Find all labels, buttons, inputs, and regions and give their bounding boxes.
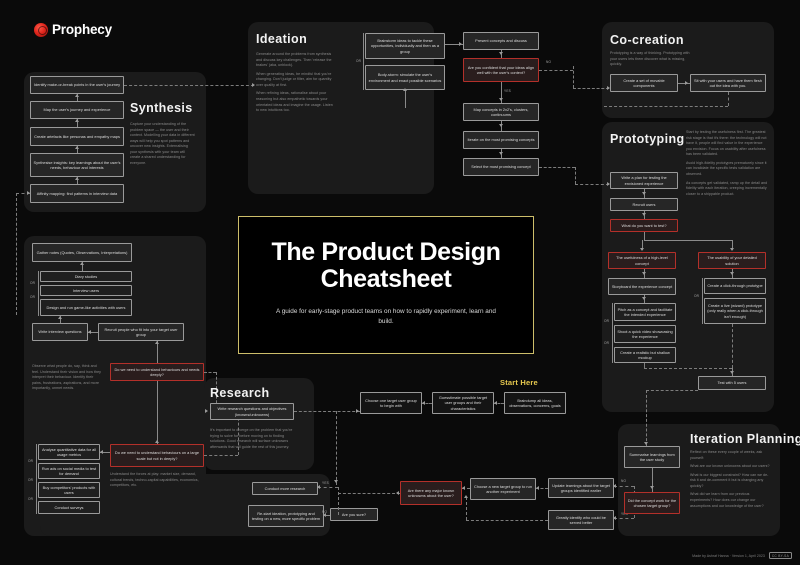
- arrow-cocreation: [685, 81, 688, 85]
- connector-ideation-no-h2: [573, 88, 609, 89]
- footer-credit: Made by Ashraf Hanna · Version 1, April …: [692, 554, 765, 558]
- connector-bottom-branch: [338, 487, 339, 515]
- arrow-quant-in: [100, 450, 103, 454]
- box-discovery-1[interactable]: Diary studies: [40, 271, 132, 282]
- footer: Made by Ashraf Hanna · Version 1, April …: [692, 552, 792, 559]
- no-label-iteration: NO: [621, 479, 626, 483]
- arrow-synth-to-ideation: [252, 83, 255, 87]
- arrow-bottom-yes: [317, 485, 320, 489]
- page-title: The Product Design Cheatsheet: [239, 239, 533, 293]
- connector-iteration-yes: [614, 518, 634, 519]
- connector-ideation-to-proto-h2: [575, 184, 609, 185]
- box-prototyping-storyboard[interactable]: Storyboard the experience concept: [608, 278, 676, 295]
- section-title-prototyping: Prototyping: [610, 132, 685, 146]
- box-prototyping-mockup[interactable]: Create a realistic but shallow mockup: [614, 347, 676, 363]
- box-discovery-quant-3[interactable]: Conduct surveys: [38, 501, 100, 514]
- arrow-disc-5: [155, 440, 159, 443]
- arrow-bottom-in: [396, 491, 399, 495]
- connector-proto-to-test-v2: [732, 324, 733, 368]
- decision-prototyping[interactable]: What do you want to test?: [610, 219, 678, 232]
- connector-proto-to-test-h: [644, 368, 732, 369]
- connector-ideation-no-h: [539, 70, 573, 71]
- box-bottom-identify-better[interactable]: Greatly identify who could be served bet…: [548, 510, 614, 530]
- arrow-bottom-newtarget-in: [536, 486, 539, 490]
- connector-proto-right-orbar: [702, 278, 703, 324]
- connector-disc0-right: [204, 372, 216, 373]
- arrow-test-to-iteration: [644, 442, 648, 445]
- box-ideation-5[interactable]: Select the most promising concept: [463, 158, 539, 176]
- decision-ideation[interactable]: Are you confident that your ideas align …: [463, 58, 539, 82]
- connector-iteration-no: [614, 486, 634, 487]
- or-label-quant-0: OR: [28, 459, 33, 463]
- yes-label-ideation: YES: [504, 89, 511, 93]
- decision-discovery-1[interactable]: Do we need to understand behaviours on a…: [110, 444, 204, 467]
- arrow-bottom-newtarget-out: [462, 486, 465, 490]
- brand-name: Prophecy: [52, 22, 112, 37]
- connector-bottom-better-up: [466, 497, 467, 520]
- box-ideation-0[interactable]: Brainstorm ideas to tackle these opportu…: [365, 33, 445, 59]
- box-discovery-3[interactable]: Design and run game-like activities with…: [40, 299, 132, 316]
- box-discovery-quant-0[interactable]: Analyse quantitative data for all usage …: [38, 444, 100, 460]
- box-synthesis-2[interactable]: Create artefacts like personas and empat…: [30, 127, 124, 146]
- arrow-synth-3: [75, 146, 79, 149]
- start-here-label: Start Here: [500, 378, 538, 387]
- box-prototyping-clickthrough[interactable]: Create a click-through prototype: [704, 278, 766, 294]
- connector-disc-4: [157, 341, 158, 363]
- section-blurb-synthesis: Capture your understanding of the proble…: [130, 122, 196, 170]
- connector-cocreation-return-h: [604, 106, 728, 107]
- arrow-iteration-no: [613, 484, 616, 488]
- connector-disc1-right: [204, 455, 238, 456]
- arrow-iteration-summ-dec: [650, 486, 654, 489]
- box-bottom-conduct-research[interactable]: Conduct more research: [252, 482, 318, 495]
- connector-proto-left-orbar: [612, 303, 613, 363]
- box-ideation-2[interactable]: Present concepts and discuss: [463, 32, 539, 50]
- box-start-2[interactable]: Braindump all ideas, observations, conce…: [504, 392, 566, 414]
- connector-cocreation-return-v: [728, 92, 729, 106]
- arrow-ideation-yes: [499, 98, 503, 101]
- arrow-ideation-4-5: [499, 152, 503, 155]
- box-discovery-5[interactable]: Recruit people who fit into your target …: [98, 323, 184, 341]
- connector-ideation-no-v: [573, 66, 574, 88]
- arrow-synth-4: [75, 177, 79, 180]
- arrow-synth-1: [75, 94, 79, 97]
- or-label-proto-1: OR: [604, 341, 609, 345]
- arrow-ideation-in: [403, 88, 407, 91]
- box-bottom-restart[interactable]: Re-start ideation, prototyping and testi…: [248, 505, 324, 527]
- section-title-synthesis: Synthesis: [130, 101, 193, 115]
- hero-card: The Product Design Cheatsheet A guide fo…: [238, 216, 534, 354]
- arrow-start-1-0: [422, 401, 425, 405]
- connector-ideation-orbar: [363, 33, 364, 90]
- box-synthesis-4[interactable]: Affinity mapping: find patterns in inter…: [30, 184, 124, 203]
- or-label-ideation: OR: [356, 59, 361, 63]
- arrow-ideation-3-4: [499, 124, 503, 127]
- section-blurb-prototyping: Start by testing the usefulness first. T…: [686, 130, 768, 200]
- connector-research-out: [294, 411, 360, 412]
- box-prototyping-recruit[interactable]: Recruit users: [610, 198, 678, 211]
- arrow-ideation-0-to-2: [459, 42, 462, 46]
- box-ideation-3[interactable]: Map concepts in 2x2's, clusters, continu…: [463, 103, 539, 121]
- box-bottom-update-learnings[interactable]: Update learnings about the target groups…: [548, 478, 614, 498]
- box-start-0[interactable]: Choose one target user group to begin wi…: [360, 392, 422, 414]
- connector-ideation-in: [405, 90, 406, 108]
- box-prototyping-pitch[interactable]: Pitch as a concept and facilitate the in…: [614, 303, 676, 321]
- section-blurb-research: It's important to diverge on the problem…: [210, 428, 294, 453]
- decision-iteration[interactable]: Did the concept work for the chosen targ…: [624, 492, 680, 514]
- box-prototyping-test5[interactable]: Test with 5 users: [698, 376, 766, 390]
- section-title-ideation: Ideation: [256, 32, 307, 46]
- box-synthesis-1[interactable]: Map the user's journey and experience: [30, 101, 124, 119]
- box-discovery-4[interactable]: Write interview questions: [32, 323, 88, 341]
- connector-bottom-better-back: [466, 520, 548, 521]
- connector-proto-split-h: [644, 240, 732, 241]
- box-discovery-quant-2[interactable]: Buy competitors' products with users: [38, 482, 100, 498]
- box-discovery-2[interactable]: Interview users: [40, 285, 132, 296]
- arrow-discovery-to-synth: [27, 191, 30, 195]
- no-label-bottom: NO: [322, 510, 327, 514]
- arrow-proto-split-r: [730, 248, 734, 251]
- arrow-bottom-better-up: [464, 495, 468, 498]
- section-blurb-ideation: Generate around the problems from synthe…: [256, 52, 334, 117]
- or-label-proto-0: OR: [604, 319, 609, 323]
- page-title-line1: The Product Design: [239, 239, 533, 266]
- connector-quant-orbar: [36, 444, 37, 514]
- arrow-research-down: [334, 480, 338, 483]
- section-title-iteration: Iteration Planning: [690, 432, 800, 446]
- section-blurb-iteration: Reflect on these every couple of weeks, …: [690, 450, 772, 512]
- connector-test-to-iteration-h: [646, 390, 698, 391]
- box-prototyping-wizard[interactable]: Create a live (wizard) prototype (only r…: [704, 298, 766, 324]
- or-label-discovery-1: OR: [30, 295, 35, 299]
- box-ideation-4[interactable]: Iterate on the most promising concepts: [463, 131, 539, 149]
- arrow-proto-to-test: [730, 371, 734, 374]
- arrow-disc-1: [80, 262, 84, 265]
- or-label-quant-2: OR: [28, 497, 33, 501]
- arrow-proto-2: [642, 213, 646, 216]
- connector-proto-split-v: [644, 232, 645, 240]
- connector-synth-to-ideation: [124, 85, 254, 86]
- arrow-proto-1: [642, 192, 646, 195]
- box-prototyping-plan[interactable]: Write a plan for testing the envisioned …: [610, 172, 678, 189]
- arrow-proto-split-l: [640, 248, 644, 251]
- arrow-synth-2: [75, 119, 79, 122]
- box-prototyping-video[interactable]: Shoot a quick video showcasing the exper…: [614, 325, 676, 343]
- creative-commons-badge: CC BY-SA: [769, 552, 792, 559]
- decision-discovery-0[interactable]: Do we need to understand behaviours and …: [110, 363, 204, 381]
- box-bottom-new-target[interactable]: Choose a new target group to run another…: [470, 478, 536, 500]
- arrow-start-2-1: [494, 401, 497, 405]
- no-label-ideation: NO: [546, 60, 551, 64]
- arrow-proto-usab-click: [730, 272, 734, 275]
- arrow-disc-3: [88, 330, 91, 334]
- page-subtitle: A guide for early-stage product teams on…: [275, 307, 497, 326]
- connector-discovery-orbar: [38, 271, 39, 316]
- branch-prototyping-usefulness[interactable]: The usefulness of a high-level concept: [608, 252, 676, 269]
- connector-bottom-in: [338, 493, 400, 494]
- decision-bottom[interactable]: Are there any major known unknowns about…: [400, 481, 462, 505]
- or-label-proto-2: OR: [694, 294, 699, 298]
- arrow-proto-story-pitch: [642, 297, 646, 300]
- yes-label-bottom: YES: [322, 481, 329, 485]
- box-research-0[interactable]: Write research questions and objectives …: [210, 403, 294, 420]
- arrow-ideation-2-3: [499, 52, 503, 55]
- poster-canvas: Prophecy Synthesis Capture your understa…: [0, 0, 800, 565]
- or-label-discovery-0: OR: [30, 281, 35, 285]
- box-ideation-1[interactable]: Body-storm: simulate the user's environm…: [365, 65, 445, 90]
- box-discovery-0[interactable]: Gather notes (Quotes, Observations, Inte…: [32, 243, 132, 262]
- arrow-proto-use-story: [642, 272, 646, 275]
- box-cocreation-0[interactable]: Create a set of movable components: [610, 74, 678, 92]
- connector-disc-5: [157, 381, 158, 444]
- box-cocreation-1[interactable]: Sit with your users and have them flesh …: [690, 74, 766, 92]
- box-iteration-summarise[interactable]: Summarise learnings from the user study: [624, 446, 680, 468]
- box-synthesis-3[interactable]: Synthesise insights: key learnings about…: [30, 153, 124, 177]
- connector-ideation-to-proto-h: [539, 167, 575, 168]
- section-title-research: Research: [210, 386, 270, 400]
- connector-cocreation: [678, 83, 690, 84]
- brand-logo: Prophecy: [34, 22, 112, 37]
- connector-bottom-yes: [318, 487, 338, 488]
- box-start-1[interactable]: Guesstimate possible target user groups …: [432, 392, 494, 414]
- arrow-disc-4: [155, 341, 159, 344]
- connector-ideation-to-proto-v: [575, 167, 576, 184]
- prophecy-logo-mark: [34, 23, 48, 37]
- or-label-quant-1: OR: [28, 478, 33, 482]
- arrow-research-out: [356, 409, 359, 413]
- box-discovery-quant-1[interactable]: Run ads on social media to test for dema…: [38, 463, 100, 479]
- section-title-cocreation: Co-creation: [610, 33, 684, 47]
- connector-test-to-iteration: [646, 390, 647, 446]
- decision-blurb-discovery: Understand the forces at play: market si…: [110, 472, 200, 492]
- branch-prototyping-usability[interactable]: The usability of your detailed solution: [698, 252, 766, 269]
- arrow-into-research: [205, 409, 208, 413]
- box-synthesis-0[interactable]: Identify make-or-break points in the use…: [30, 76, 124, 94]
- page-title-line2: Cheatsheet: [239, 266, 533, 293]
- arrow-disc-2: [58, 316, 62, 319]
- arrow-iteration-yes: [613, 516, 616, 520]
- section-blurb-cocreation: Prototyping is a way of thinking. Protot…: [610, 51, 696, 71]
- connector-research-down: [336, 411, 337, 485]
- connector-proto-to-test-v1: [644, 363, 645, 368]
- section-blurb-discovery: Observe what people do, say, think and f…: [32, 364, 104, 395]
- connector-discovery-to-synth-v: [16, 193, 17, 315]
